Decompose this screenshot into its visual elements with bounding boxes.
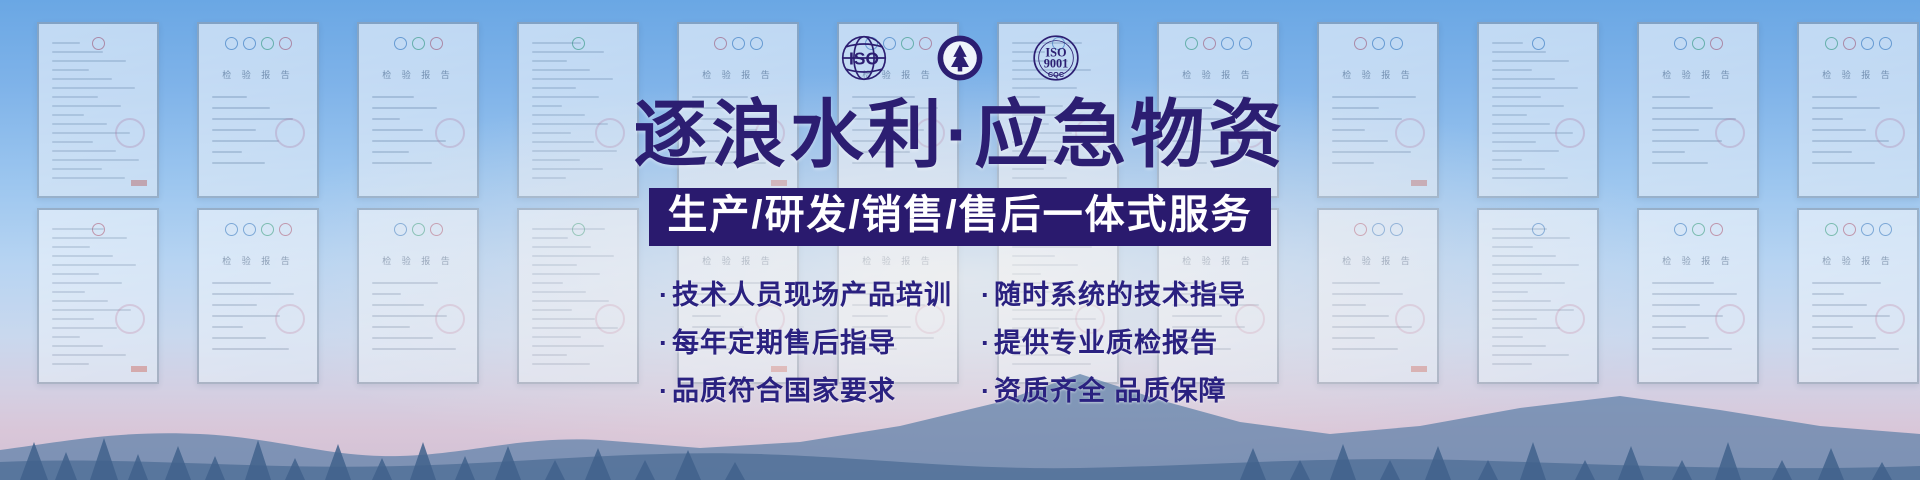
banner-content: ISO ISO 9001 CQC 逐浪水利·应急物资 生产/研发/销售/售后一体…	[0, 0, 1920, 480]
iso9001-cqc-badge: ISO 9001 CQC	[1028, 30, 1084, 86]
feature-item-3: ·每年定期售后指导	[659, 321, 959, 360]
bullet-icon: ·	[981, 376, 991, 406]
iso-globe-badge-text: ISO	[849, 49, 879, 69]
promotional-banner: 检 验 报 告检 验 报 告检 验 报 告检 验 报 告检 验 报 告检 验 报…	[0, 0, 1920, 480]
banner-subtitle-bar: 生产/研发/销售/售后一体式服务	[649, 188, 1270, 246]
bullet-icon: ·	[659, 328, 669, 358]
feature-item-4: ·提供专业质检报告	[981, 321, 1261, 360]
feature-item-6-label: 资质齐全 品质保障	[994, 376, 1227, 406]
feature-item-1-label: 技术人员现场产品培训	[672, 280, 952, 310]
bullet-icon: ·	[981, 280, 991, 310]
iso9001-badge-number-text: 9001	[1044, 57, 1069, 71]
feature-item-2-label: 随时系统的技术指导	[994, 280, 1246, 310]
iso14000-environment-badge	[932, 30, 988, 86]
feature-item-4-label: 提供专业质检报告	[994, 328, 1218, 358]
feature-item-3-label: 每年定期售后指导	[672, 328, 896, 358]
feature-list: ·技术人员现场产品培训 ·随时系统的技术指导 ·每年定期售后指导 ·提供专业质检…	[659, 268, 1261, 412]
certification-badge-row: ISO ISO 9001 CQC	[836, 30, 1084, 86]
bullet-icon: ·	[981, 328, 991, 358]
feature-item-5-label: 品质符合国家要求	[672, 376, 896, 406]
feature-item-5: ·品质符合国家要求	[659, 369, 959, 408]
bullet-icon: ·	[659, 280, 669, 310]
bullet-icon: ·	[659, 376, 669, 406]
iso-globe-badge: ISO	[836, 30, 892, 86]
feature-item-6: ·资质齐全 品质保障	[981, 369, 1261, 408]
feature-item-1: ·技术人员现场产品培训	[659, 273, 959, 312]
banner-title: 逐浪水利·应急物资	[634, 98, 1287, 172]
feature-item-2: ·随时系统的技术指导	[981, 273, 1261, 312]
cqc-badge-text: CQC	[1048, 70, 1065, 79]
